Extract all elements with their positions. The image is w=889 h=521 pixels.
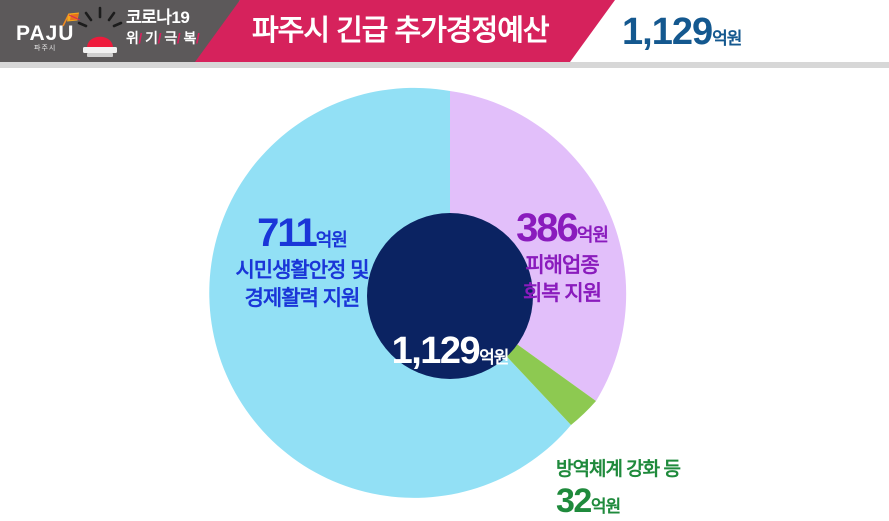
slice-0-amount: 711억원: [192, 211, 412, 256]
donut-center-total: 1,129억원: [330, 330, 570, 373]
slash-separator-2: /: [158, 30, 161, 46]
slice-1-amount: 386억원: [462, 206, 662, 251]
slice-2-amount: 32억원: [556, 482, 746, 521]
corona-campaign-line1: 코로나19: [126, 8, 206, 28]
slice-2-desc-line1: 방역체계 강화 등: [556, 458, 746, 482]
siren-alert-icon: [74, 6, 126, 58]
corona-campaign-block: 코로나19 위/ 기/ 극/ 복/: [126, 8, 206, 54]
donut-chart-svg: [0, 68, 889, 500]
header-total-amount: 1,129억원: [622, 10, 741, 62]
header-amount-number: 1,129: [622, 11, 712, 53]
slice-0-amount-number: 711: [257, 211, 316, 255]
slice-1-amount-number: 386: [516, 206, 577, 250]
corona-word-4: 복: [184, 30, 196, 46]
slash-separator-4: /: [196, 30, 199, 46]
corona-word-2: 기: [145, 30, 157, 46]
slash-separator-1: /: [138, 30, 141, 46]
page-header: PAJU 파주시 코로나19 위/ 기/ 극/ 복/ 파주시 긴급 추가경정예산…: [0, 0, 889, 62]
slice-label-citizen-support: 711억원 시민생활안정 및 경제활력 지원: [192, 211, 412, 312]
slice-0-desc-line2: 경제활력 지원: [192, 286, 412, 312]
slice-label-industry-recovery: 386억원 피해업종 회복 지원: [462, 206, 662, 307]
center-total-number: 1,129: [392, 330, 480, 372]
donut-chart: 711억원 시민생활안정 및 경제활력 지원 386억원 피해업종 회복 지원 …: [0, 68, 889, 500]
page-title: 파주시 긴급 추가경정예산: [252, 12, 549, 50]
center-total-unit: 억원: [479, 348, 508, 367]
slice-0-amount-unit: 억원: [316, 230, 347, 250]
corona-campaign-line2: 위/ 기/ 극/ 복/: [126, 29, 206, 47]
header-amount-unit: 억원: [712, 29, 741, 48]
corona-word-1: 위: [126, 30, 138, 46]
slice-1-amount-unit: 억원: [577, 225, 608, 245]
slice-0-desc-line1: 시민생활안정 및: [192, 258, 412, 284]
slice-2-amount-number: 32: [556, 482, 591, 520]
slice-1-desc-line2: 회복 지원: [462, 281, 662, 307]
corona-word-3: 극: [164, 30, 176, 46]
slash-separator-3: /: [177, 30, 180, 46]
slice-1-desc-line1: 피해업종: [462, 253, 662, 279]
paju-logo-subtitle: 파주시: [34, 43, 56, 53]
slice-label-quarantine: 방역체계 강화 등 32억원: [556, 458, 746, 521]
